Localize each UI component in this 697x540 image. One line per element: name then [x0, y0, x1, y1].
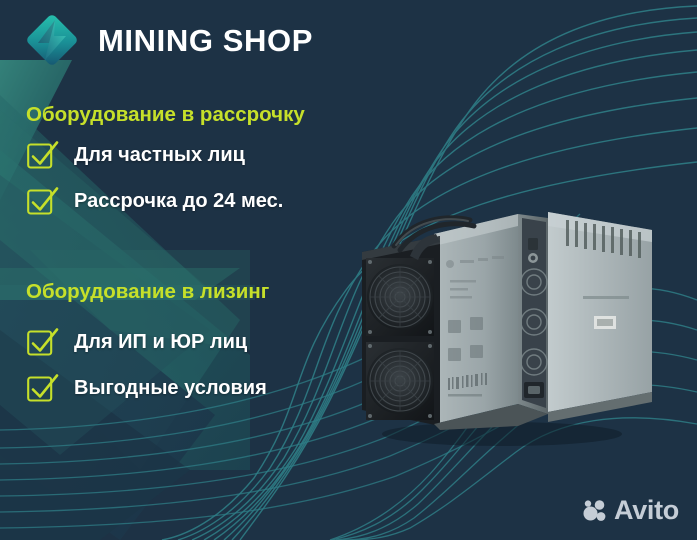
list-item-label: Для частных лиц [74, 145, 245, 165]
checkbox-check-icon [26, 325, 60, 359]
list-item: Для ИП и ЮР лиц [26, 319, 269, 365]
offer-heading: Оборудование в лизинг [26, 282, 269, 303]
list-item-label: Рассрочка до 24 мес. [74, 191, 283, 211]
list-item-label: Выгодные условия [74, 378, 267, 398]
list-item: Для частных лиц [26, 132, 305, 178]
list-item: Выгодные условия [26, 365, 269, 411]
bullet-list: Для частных лиц Рассрочка до 24 мес. [26, 132, 305, 224]
avito-dots-icon [583, 500, 607, 522]
offer-block-installment: Оборудование в рассрочку Для частных лиц [26, 105, 305, 224]
checkbox-check-icon [26, 184, 60, 218]
offer-heading: Оборудование в рассрочку [26, 105, 305, 126]
offer-block-leasing: Оборудование в лизинг Для ИП и ЮР лиц [26, 282, 269, 411]
advertisement-banner: MINING SHOP Оборудование в рассрочку Для… [0, 0, 697, 540]
bullet-list: Для ИП и ЮР лиц Выгодные условия [26, 319, 269, 411]
avito-wordmark: Avito [614, 497, 679, 524]
avito-watermark: Avito [583, 497, 679, 524]
list-item: Рассрочка до 24 мес. [26, 178, 305, 224]
checkbox-check-icon [26, 138, 60, 172]
checkbox-check-icon [26, 371, 60, 405]
page-title: MINING SHOP [98, 25, 313, 56]
list-item-label: Для ИП и ЮР лиц [74, 332, 247, 352]
brand-header: MINING SHOP [24, 12, 313, 68]
lightning-bolt-diamond-icon [24, 12, 80, 68]
asic-miner-photo [352, 196, 652, 446]
